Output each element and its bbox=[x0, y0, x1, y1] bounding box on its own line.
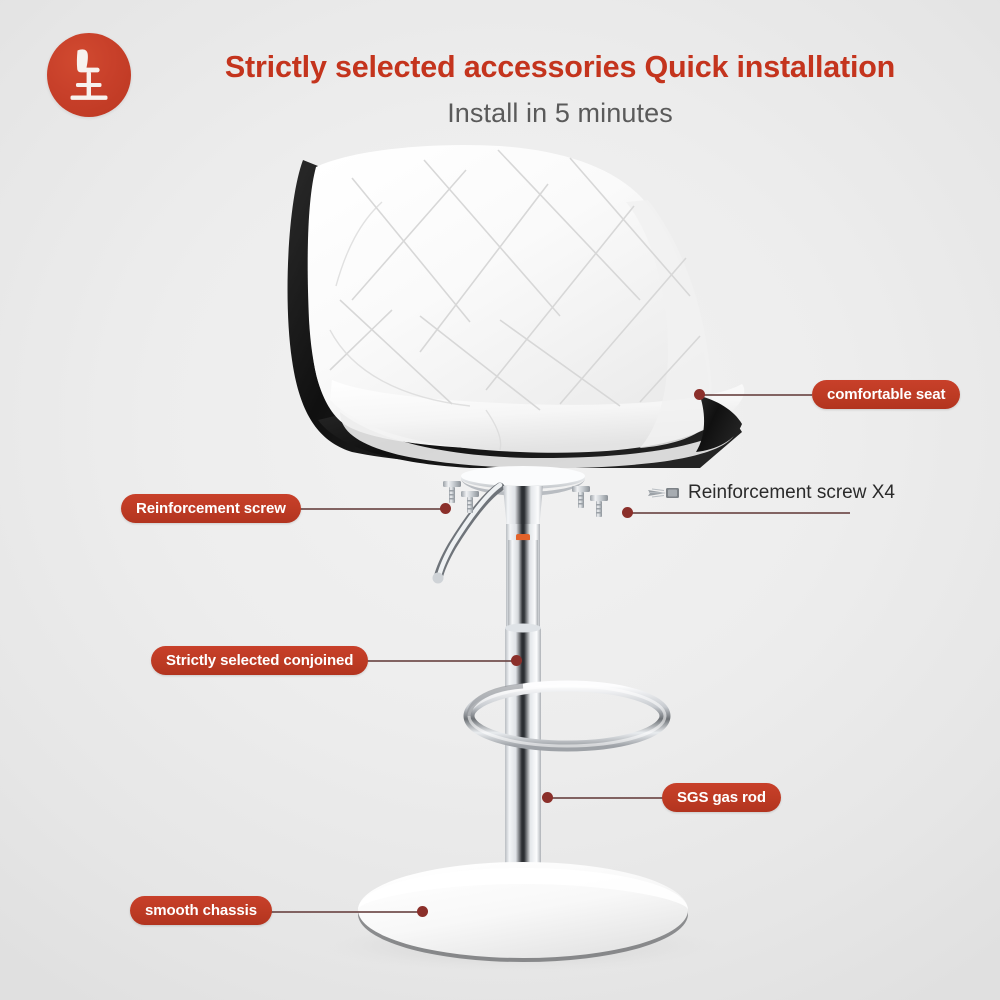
leader-line-reinforcement-screw-x4 bbox=[628, 512, 850, 514]
screw-1 bbox=[443, 481, 461, 503]
product-infographic: Strictly selected accessories Quick inst… bbox=[0, 0, 1000, 1000]
callout-strictly-selected-conjoined[interactable]: Strictly selected conjoined bbox=[151, 646, 368, 675]
screw-3 bbox=[572, 486, 590, 508]
callout-reinforcement-screw-x4[interactable]: Reinforcement screw X4 bbox=[644, 482, 895, 504]
screw-icon bbox=[644, 485, 680, 501]
leader-dot-reinforcement-screw bbox=[440, 503, 451, 514]
orange-marker-band bbox=[516, 534, 530, 541]
seat-assembly bbox=[288, 145, 745, 468]
height-adjust-lever bbox=[433, 485, 501, 584]
screw-4 bbox=[590, 495, 608, 517]
callout-sgs-gas-rod[interactable]: SGS gas rod bbox=[662, 783, 781, 812]
callout-comfortable-seat[interactable]: comfortable seat bbox=[812, 380, 960, 409]
leader-dot-comfortable-seat bbox=[694, 389, 705, 400]
leader-dot-smooth-chassis bbox=[417, 906, 428, 917]
leader-dot-reinforcement-screw-x4 bbox=[622, 507, 633, 518]
leader-dot-sgs-gas-rod bbox=[542, 792, 553, 803]
leader-line-smooth-chassis bbox=[255, 911, 423, 913]
callout-reinforcement-screw-x4-label: Reinforcement screw X4 bbox=[688, 482, 895, 504]
leader-dot-strictly-selected-conjoined bbox=[511, 655, 522, 666]
callout-comfortable-seat-label: comfortable seat bbox=[827, 386, 945, 403]
callout-reinforcement-screw-label: Reinforcement screw bbox=[136, 500, 286, 517]
leader-line-comfortable-seat bbox=[700, 394, 812, 396]
callout-smooth-chassis-label: smooth chassis bbox=[145, 902, 257, 919]
callout-strictly-selected-conjoined-label: Strictly selected conjoined bbox=[166, 652, 353, 669]
callout-sgs-gas-rod-label: SGS gas rod bbox=[677, 789, 766, 806]
leader-line-sgs-gas-rod bbox=[548, 797, 666, 799]
callout-reinforcement-screw[interactable]: Reinforcement screw bbox=[121, 494, 301, 523]
callout-smooth-chassis[interactable]: smooth chassis bbox=[130, 896, 272, 925]
footrest-ring bbox=[469, 686, 665, 746]
